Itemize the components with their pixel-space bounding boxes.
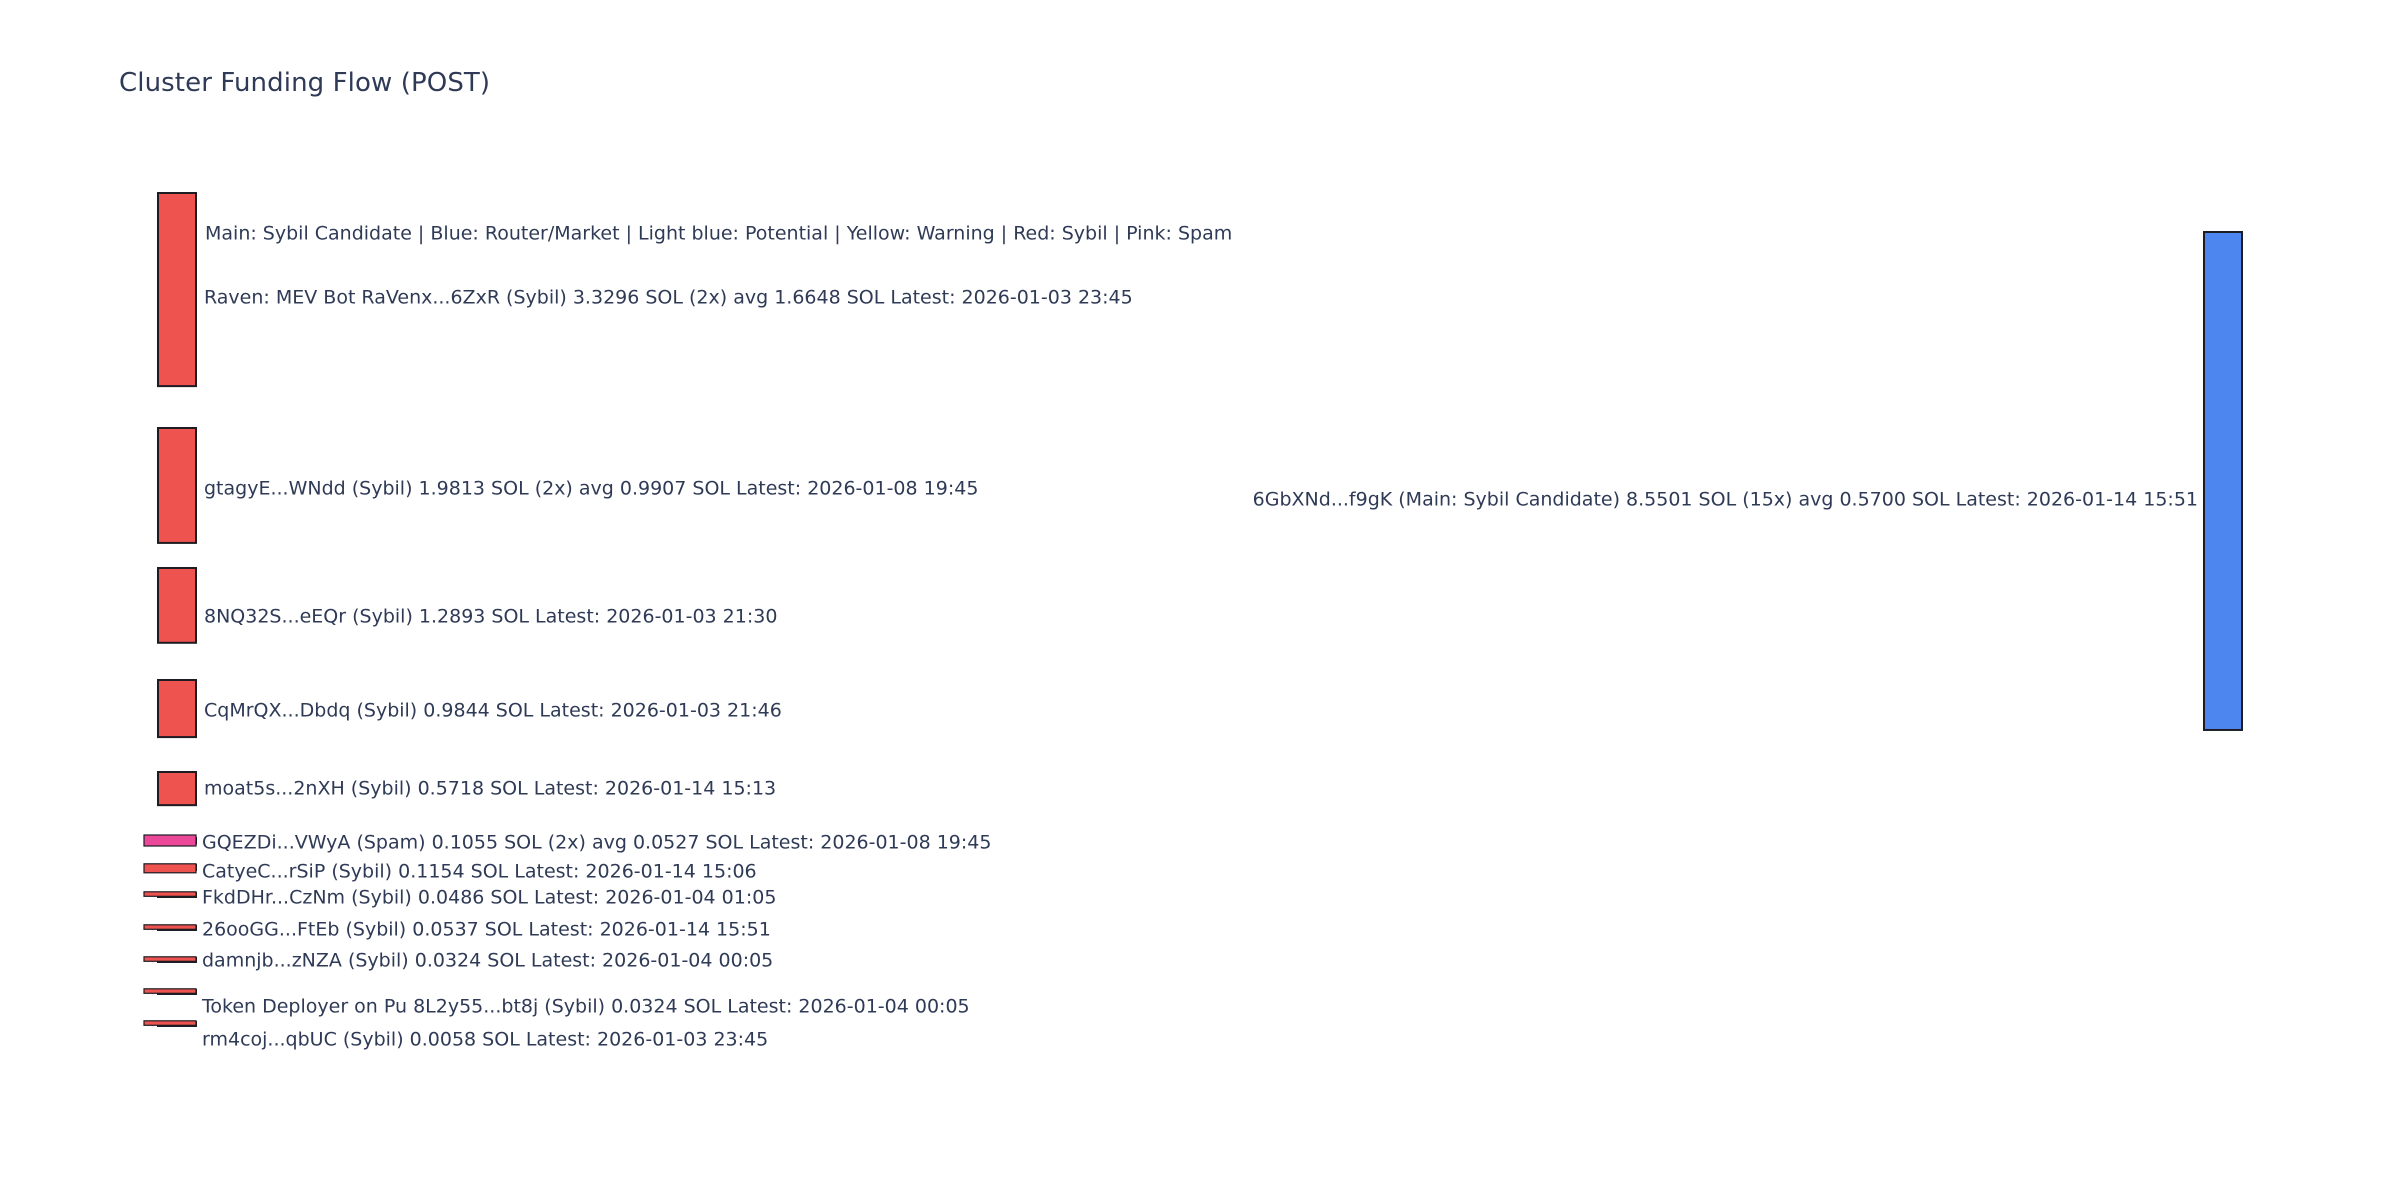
sankey-source-node-marker[interactable] [144,989,196,994]
sankey-source-node-marker[interactable] [144,892,196,897]
sankey-source-label: moat5s...2nXH (Sybil) 0.5718 SOL Latest:… [204,778,776,800]
sankey-target-label: 6GbXNd...f9gK (Main: Sybil Candidate) 8.… [1253,489,2198,511]
sankey-svg: Raven: MEV Bot RaVenx...6ZxR (Sybil) 3.3… [0,0,2400,1200]
sankey-chart-container: Cluster Funding Flow (POST) Raven: MEV B… [0,0,2400,1200]
sankey-source-node-marker[interactable] [144,957,196,962]
sankey-source-label: damnjb...zNZA (Sybil) 0.0324 SOL Latest:… [202,950,773,972]
sankey-source-node[interactable] [158,428,196,543]
sankey-source-label: Token Deployer on Pu 8L2y55...bt8j (Sybi… [201,996,970,1018]
sankey-labels-group: Raven: MEV Bot RaVenx...6ZxR (Sybil) 3.3… [201,287,2198,1051]
sankey-source-node[interactable] [158,680,196,737]
sankey-source-node[interactable] [158,193,196,386]
sankey-source-label: 26ooGG...FtEb (Sybil) 0.0537 SOL Latest:… [202,919,771,941]
sankey-source-label: CatyeC...rSiP (Sybil) 0.1154 SOL Latest:… [202,861,757,883]
sankey-source-label: CqMrQX...Dbdq (Sybil) 0.9844 SOL Latest:… [204,700,782,722]
sankey-source-node[interactable] [158,772,196,805]
sankey-source-label: Raven: MEV Bot RaVenx...6ZxR (Sybil) 3.3… [204,287,1133,309]
sankey-source-label: rm4coj...qbUC (Sybil) 0.0058 SOL Latest:… [202,1029,768,1051]
sankey-source-node[interactable] [158,568,196,643]
sankey-source-label: FkdDHr...CzNm (Sybil) 0.0486 SOL Latest:… [202,887,776,909]
sankey-target-node[interactable] [2204,232,2242,730]
sankey-link[interactable] [196,705,2204,843]
sankey-source-node-marker[interactable] [144,864,196,873]
sankey-source-node-marker[interactable] [144,1021,196,1026]
sankey-link[interactable] [196,193,2204,425]
sankey-source-label: gtagyE...WNdd (Sybil) 1.9813 SOL (2x) av… [204,478,978,500]
sankey-source-label: GQEZDi...VWyA (Spam) 0.1055 SOL (2x) avg… [202,832,991,854]
sankey-source-node-marker[interactable] [144,925,196,930]
sankey-source-node-marker[interactable] [144,835,196,846]
sankey-source-label: 8NQ32S...eEQr (Sybil) 1.2893 SOL Latest:… [204,606,777,628]
